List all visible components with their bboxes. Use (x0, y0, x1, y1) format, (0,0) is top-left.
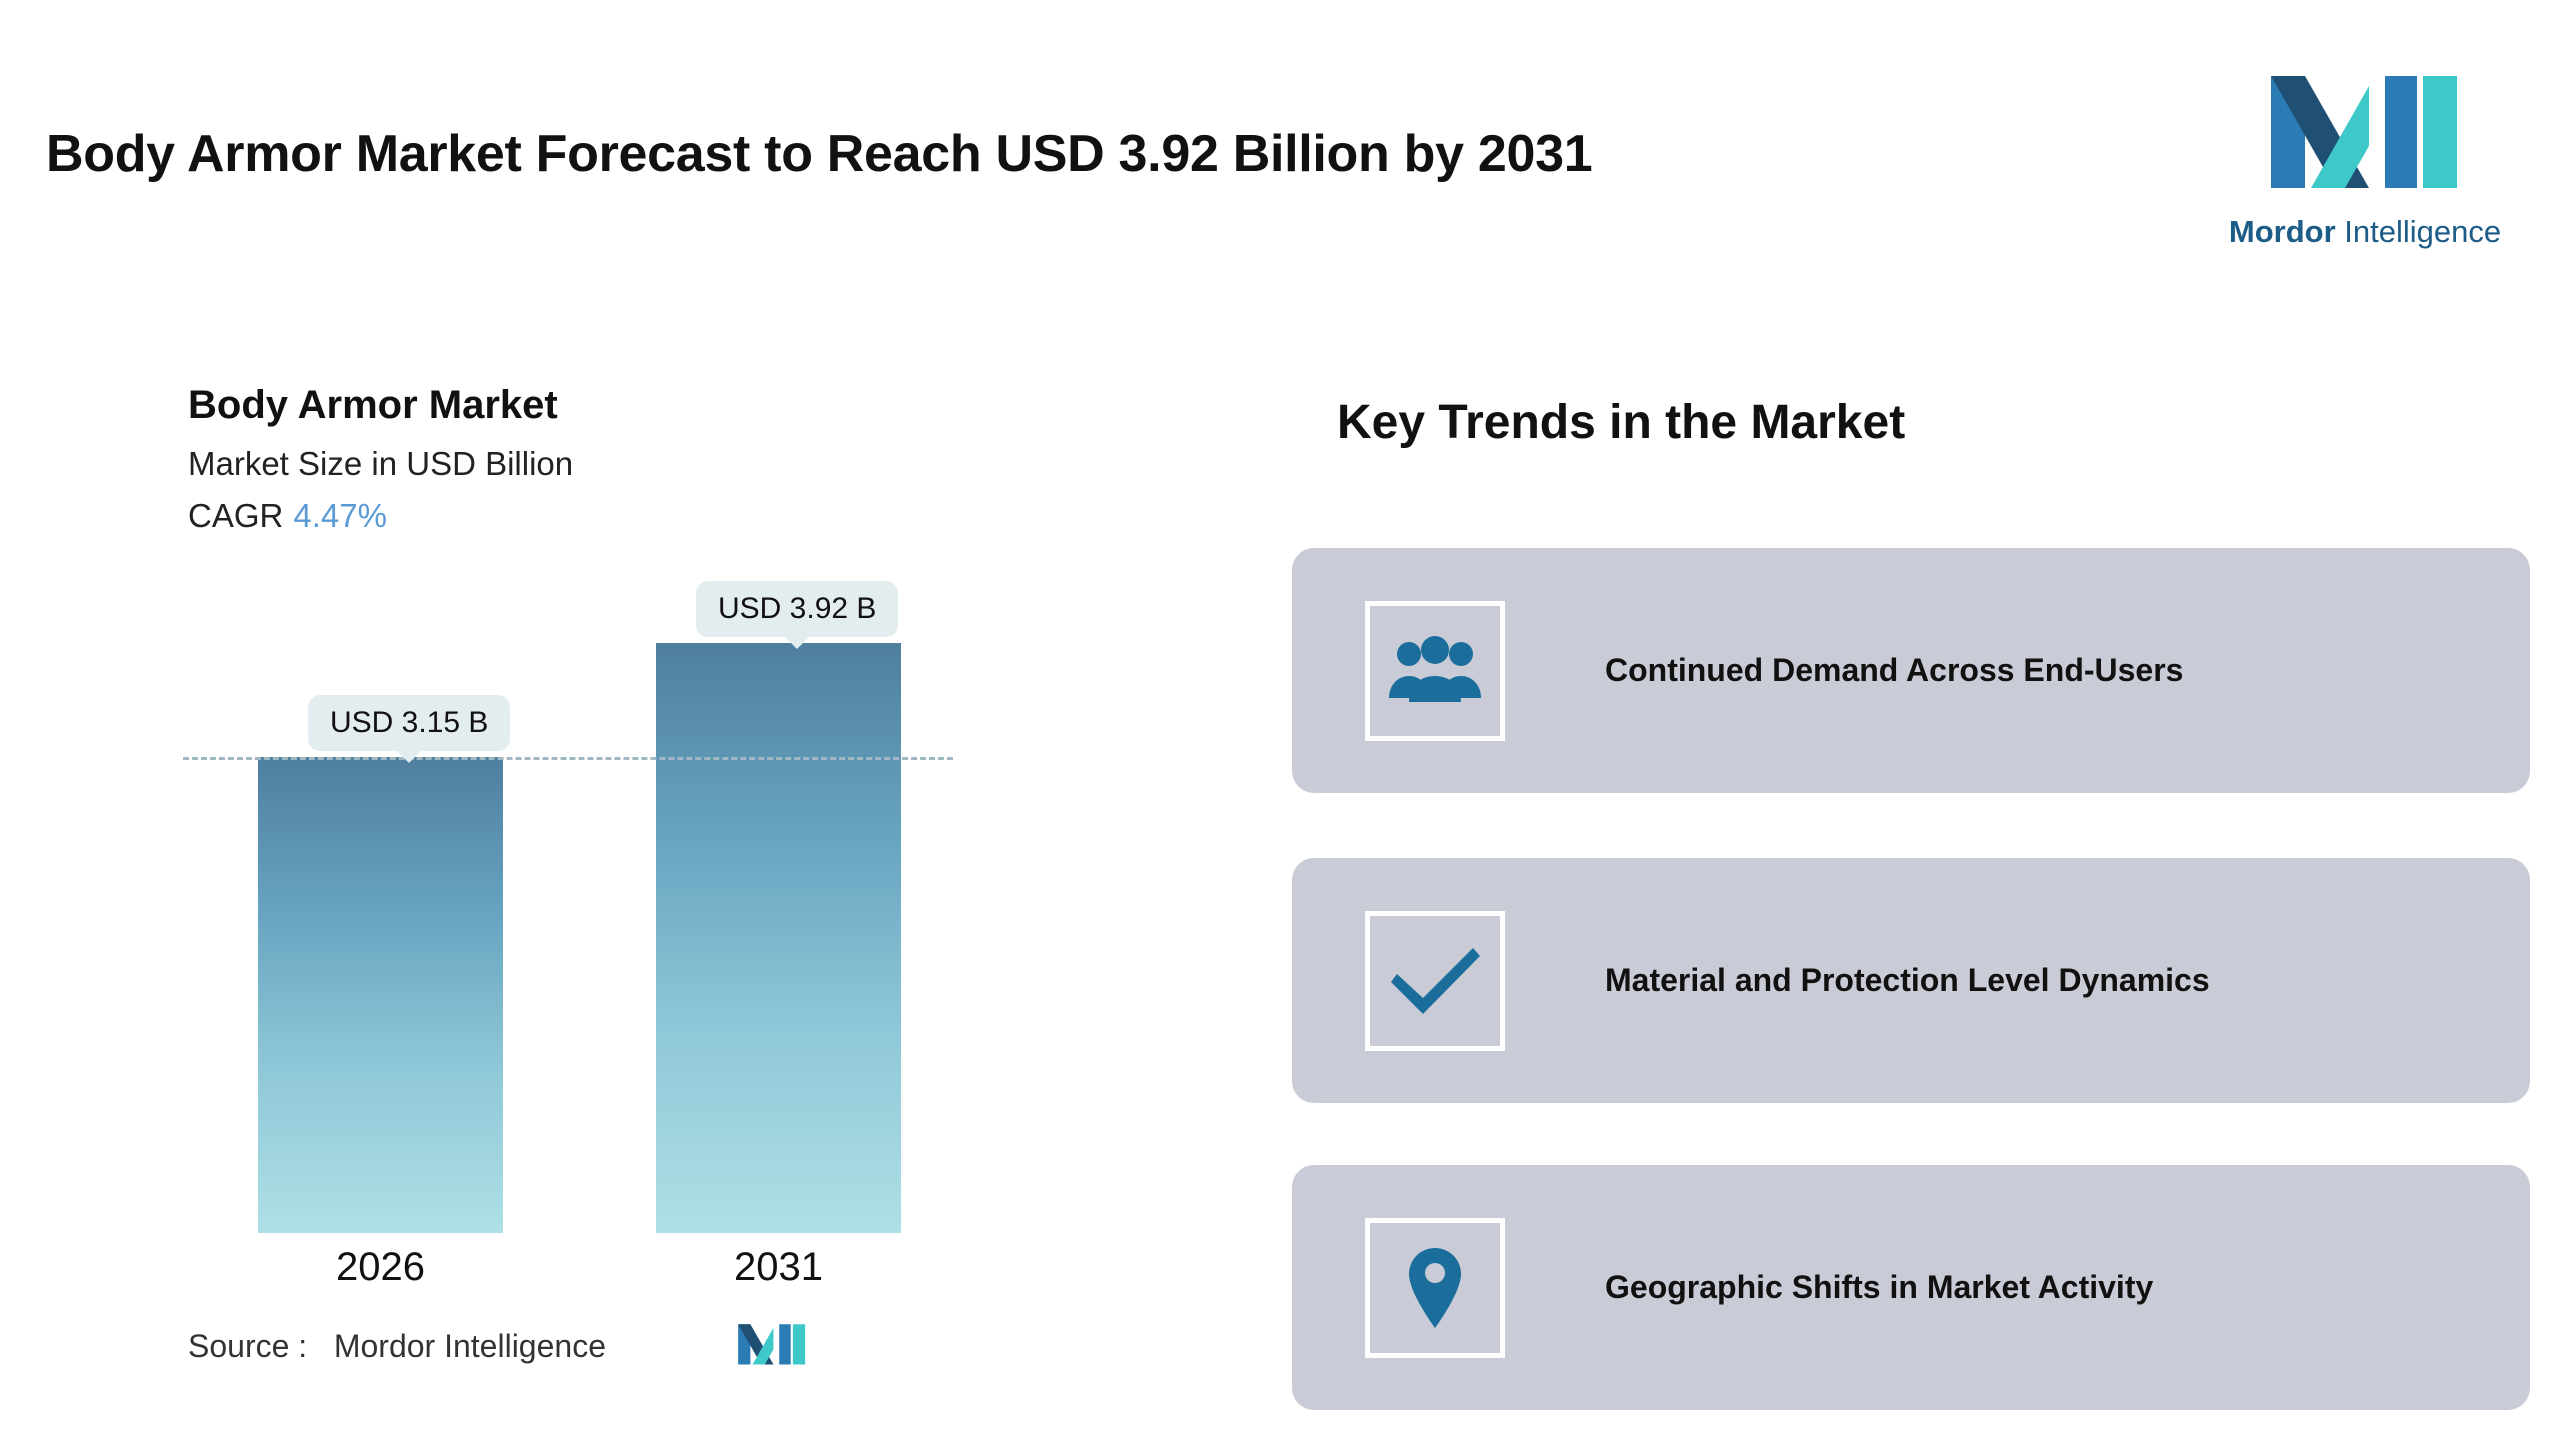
chart-card: Body Armor Market Market Size in USD Bil… (148, 353, 988, 1438)
trend-card-geographic-shifts[interactable]: Geographic Shifts in Market Activity (1292, 1165, 2530, 1410)
bar-2031 (656, 643, 901, 1233)
source-label: Source : (188, 1328, 307, 1364)
x-axis-label-2026: 2026 (258, 1245, 503, 1290)
logo-wordmark-light: Intelligence (2344, 214, 2501, 249)
chart-title: Body Armor Market (188, 383, 558, 428)
logo-wordmark-bold: Mordor (2229, 214, 2336, 249)
cagr-row: CAGR4.47% (188, 497, 387, 535)
mordor-logo-mark (2265, 66, 2465, 196)
reference-line (183, 757, 953, 760)
page-title: Body Armor Market Forecast to Reach USD … (46, 125, 2106, 185)
trend-label-1: Material and Protection Level Dynamics (1605, 962, 2210, 999)
trend-label-0: Continued Demand Across End-Users (1605, 652, 2183, 689)
brand-logo: Mordor Intelligence (2200, 0, 2530, 315)
source-name: Mordor Intelligence (334, 1328, 606, 1364)
trend-card-continued-demand[interactable]: Continued Demand Across End-Users (1292, 548, 2530, 793)
chart-subtitle: Market Size in USD Billion (188, 445, 573, 483)
check-mark-icon (1365, 911, 1505, 1051)
source-row: Source : Mordor Intelligence (188, 1328, 606, 1365)
people-group-icon (1365, 601, 1505, 741)
cagr-label: CAGR (188, 497, 283, 534)
trend-label-2: Geographic Shifts in Market Activity (1605, 1269, 2153, 1306)
trends-heading: Key Trends in the Market (1337, 395, 1905, 450)
map-pin-icon (1365, 1218, 1505, 1358)
x-axis-label-2031: 2031 (656, 1245, 901, 1290)
logo-wordmark: Mordor Intelligence (2229, 214, 2501, 250)
bar-chart-plot: USD 3.15 B USD 3.92 B 2026 2031 (148, 583, 988, 1233)
trend-card-material-protection[interactable]: Material and Protection Level Dynamics (1292, 858, 2530, 1103)
bar-value-label-2026: USD 3.15 B (308, 695, 510, 751)
source-logo-icon (736, 1319, 808, 1369)
bar-2026 (258, 757, 503, 1233)
cagr-value: 4.47% (293, 497, 387, 534)
bar-value-label-2031: USD 3.92 B (696, 581, 898, 637)
